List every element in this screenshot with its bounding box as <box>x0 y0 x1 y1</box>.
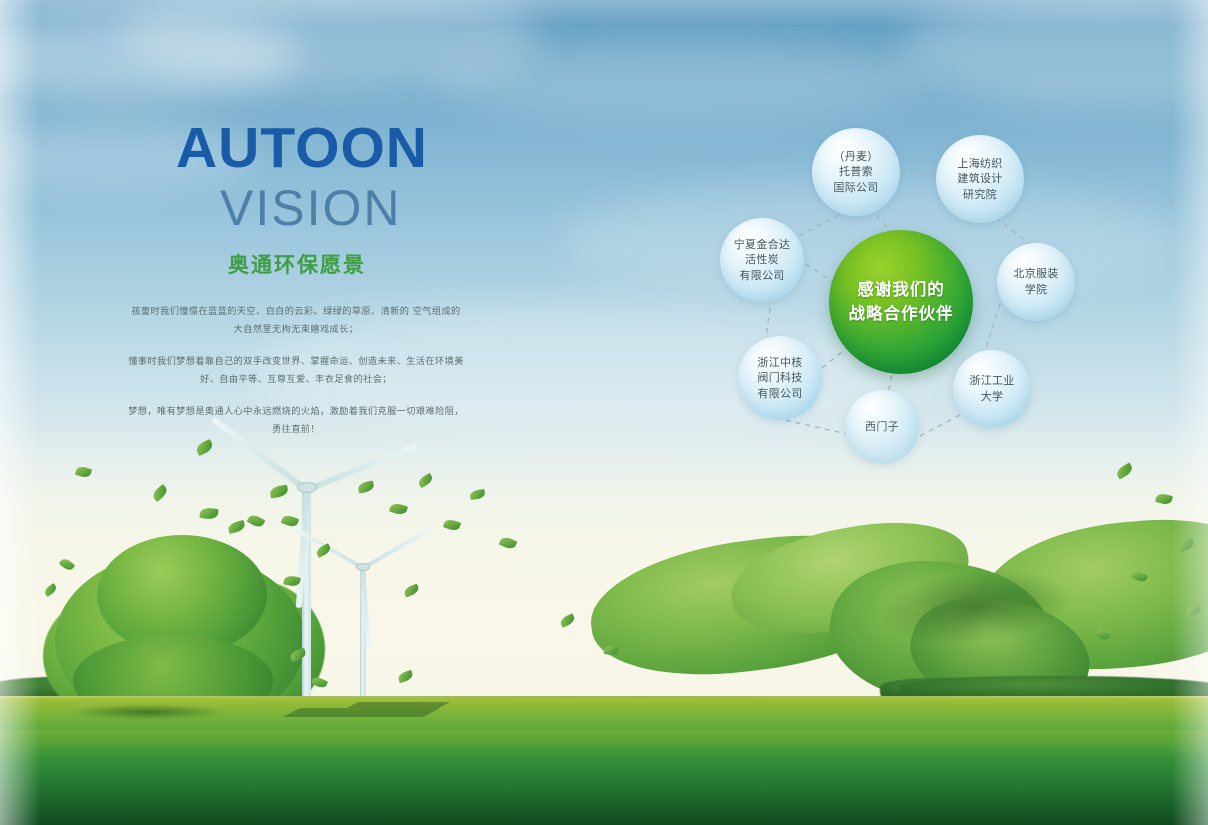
copy-paragraph: 孩童时我们憧憬在蓝蓝的天空、白白的云彩、绿绿的草原、清新的 空气组成的大自然里无… <box>128 303 464 339</box>
partner-bubble[interactable]: 宁夏金合达活性炭有限公司 <box>720 218 804 302</box>
horizon-line <box>0 696 1208 698</box>
core-label-line-2: 战略合作伙伴 <box>849 302 954 326</box>
turbine-shadow <box>347 702 450 708</box>
cloud-wisp <box>430 40 930 120</box>
page-title: AUTOON <box>176 120 596 177</box>
partner-label: 浙江中核阀门科技有限公司 <box>751 355 808 402</box>
cloud-wisp <box>120 0 540 90</box>
cloud-wisp <box>0 10 300 100</box>
cloud-wisp <box>900 0 1208 110</box>
partner-bubble[interactable]: 上海纺织建筑设计研究院 <box>936 135 1024 223</box>
landscape-scene <box>0 420 1208 825</box>
page-subtitle: VISION <box>220 183 596 233</box>
core-label-line-1: 感谢我们的 <box>857 278 945 302</box>
tree-shadow <box>68 704 228 720</box>
partner-label: 浙江工业大学 <box>963 373 1020 404</box>
diagram-core-circle: 感谢我们的 战略合作伙伴 <box>829 230 973 374</box>
partner-bubble[interactable]: 浙江中核阀门科技有限公司 <box>738 336 822 420</box>
partner-label: 上海纺织建筑设计研究院 <box>951 156 1008 203</box>
partner-bubble[interactable]: 浙江工业大学 <box>953 350 1031 428</box>
partner-label: 北京服装学院 <box>1007 266 1064 297</box>
tree <box>35 535 325 705</box>
poster-canvas: AUTOON VISION 奥通环保愿景 孩童时我们憧憬在蓝蓝的天空、白白的云彩… <box>0 0 1208 825</box>
grass-highlight-band <box>0 730 1208 758</box>
partner-label: 宁夏金合达活性炭有限公司 <box>728 237 797 284</box>
partner-bubble[interactable]: 北京服装学院 <box>997 243 1075 321</box>
turbine-shadow <box>283 708 440 717</box>
partner-bubble[interactable]: （丹麦）托普索国际公司 <box>812 128 900 216</box>
headline-block: AUTOON VISION 奥通环保愿景 <box>176 120 596 279</box>
page-title-chinese: 奥通环保愿景 <box>228 249 596 279</box>
copy-paragraph: 懂事时我们梦想着靠自己的双手改变世界、掌握命运、创造未来、生活在环境美好、自由平… <box>128 353 464 389</box>
turbine-hub <box>356 563 370 571</box>
turbine-hub <box>297 482 317 493</box>
partner-label: （丹麦）托普索国际公司 <box>827 149 884 196</box>
